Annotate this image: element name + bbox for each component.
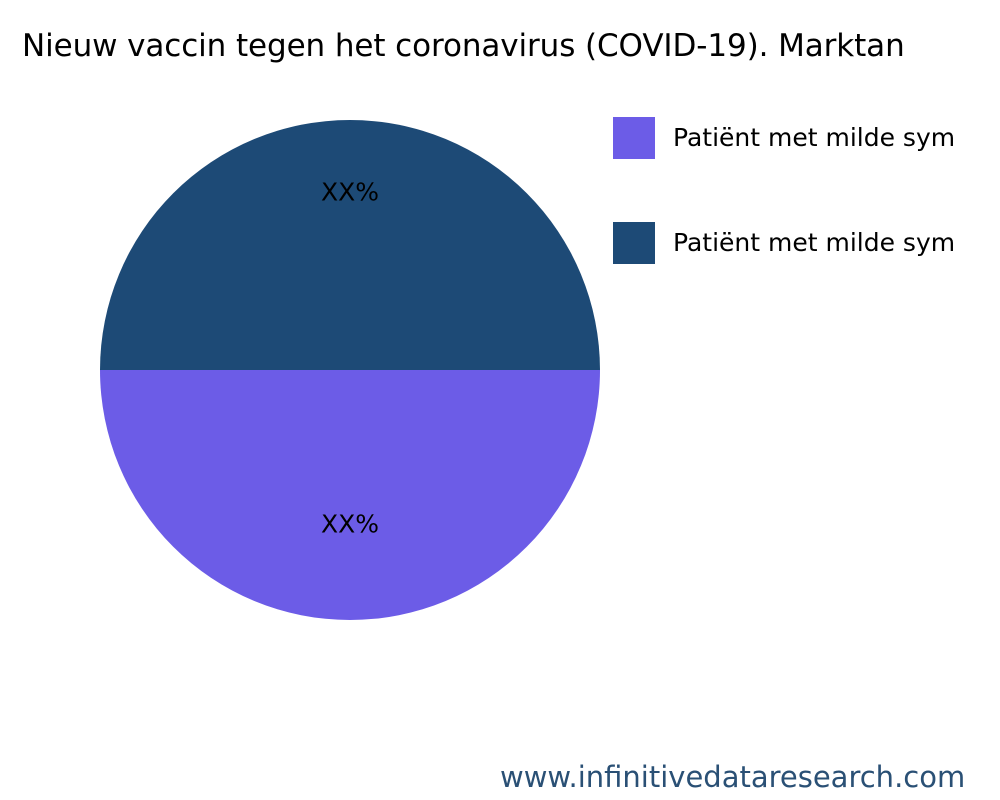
- legend-swatch-purple-icon: [613, 117, 655, 159]
- legend-label-0: Patiënt met milde sym: [673, 119, 1000, 157]
- pie-slice-label-navy: XX%: [321, 180, 379, 205]
- legend-item-1[interactable]: Patiënt met milde sym: [613, 222, 1000, 327]
- pie-chart-figure: Nieuw vaccin tegen het coronavirus (COVI…: [0, 0, 1000, 800]
- pie-slice-label-purple: XX%: [321, 512, 379, 537]
- pie-chart-area: XX% XX%: [100, 120, 600, 620]
- legend-item-0[interactable]: Patiënt met milde sym: [613, 117, 1000, 222]
- chart-legend: Patiënt met milde sym Patiënt met milde …: [613, 117, 1000, 327]
- chart-title: Nieuw vaccin tegen het coronavirus (COVI…: [22, 27, 1000, 65]
- legend-label-1: Patiënt met milde sym: [673, 224, 1000, 262]
- footer-source-url[interactable]: www.infinitivedataresearch.com: [500, 760, 965, 794]
- pie-slice-purple[interactable]: [100, 370, 600, 620]
- pie-slice-navy[interactable]: [100, 120, 600, 370]
- legend-swatch-navy-icon: [613, 222, 655, 264]
